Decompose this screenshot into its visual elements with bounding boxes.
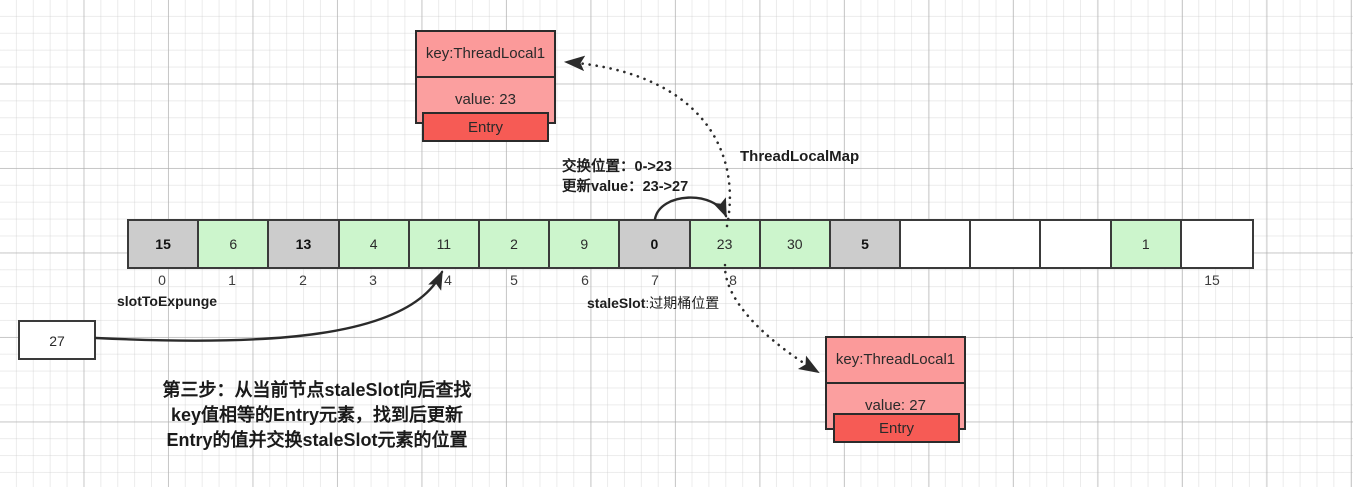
threadlocalmap-array: 15 6 13 4 11 2 9 0 23 30 5 1 <box>127 219 1254 269</box>
step-caption: 第三步：从当前节点staleSlot向后查找 key值相等的Entry元素，找到… <box>97 378 537 453</box>
array-index-2: 2 <box>283 272 323 288</box>
array-cell-13[interactable] <box>1041 221 1111 267</box>
array-index-0: 0 <box>142 272 182 288</box>
array-cell-7[interactable]: 0 <box>620 221 690 267</box>
array-index-15: 15 <box>1192 272 1232 288</box>
stale-slot-label-bold: staleSlot <box>587 295 645 311</box>
diagram-canvas: key:ThreadLocal1 value: 23 Entry key:Thr… <box>0 0 1353 487</box>
stale-slot-label: staleSlot:过期桶位置 <box>587 293 719 313</box>
step-caption-line1: 第三步：从当前节点staleSlot向后查找 <box>97 378 537 403</box>
swap-note: 交换位置：0->23 更新value：23->27 <box>562 157 722 197</box>
slot-to-expunge-label: slotToExpunge <box>117 293 217 309</box>
array-index-7: 7 <box>635 272 675 288</box>
array-index-1: 1 <box>212 272 252 288</box>
swap-note-line2: 更新value：23->27 <box>562 177 722 197</box>
entry-bottom-footer: Entry <box>833 413 960 443</box>
array-cell-2[interactable]: 13 <box>269 221 339 267</box>
array-index-6: 6 <box>565 272 605 288</box>
array-index-4: 4 <box>428 272 468 288</box>
swap-arc-arrow <box>655 198 726 219</box>
array-index-8: 8 <box>713 272 753 288</box>
array-cell-1[interactable]: 6 <box>199 221 269 267</box>
array-cell-9[interactable]: 30 <box>761 221 831 267</box>
swap-note-line1: 交换位置：0->23 <box>562 157 722 177</box>
array-cell-8[interactable]: 23 <box>691 221 761 267</box>
stale-slot-label-rest: :过期桶位置 <box>645 295 719 311</box>
array-cell-4[interactable]: 11 <box>410 221 480 267</box>
entry-top-key: key:ThreadLocal1 <box>417 32 554 76</box>
array-cell-14[interactable]: 1 <box>1112 221 1182 267</box>
array-cell-5[interactable]: 2 <box>480 221 550 267</box>
array-cell-3[interactable]: 4 <box>340 221 410 267</box>
array-index-5: 5 <box>494 272 534 288</box>
dotted-arrow-to-top-entry <box>566 62 730 226</box>
array-cell-6[interactable]: 9 <box>550 221 620 267</box>
new-value-box: 27 <box>18 320 96 360</box>
array-cell-0[interactable]: 15 <box>129 221 199 267</box>
threadlocalmap-label: ThreadLocalMap <box>740 148 859 165</box>
entry-bottom-key: key:ThreadLocal1 <box>827 338 964 382</box>
array-cell-11[interactable] <box>901 221 971 267</box>
array-index-3: 3 <box>353 272 393 288</box>
array-cell-12[interactable] <box>971 221 1041 267</box>
entry-card-top: key:ThreadLocal1 value: 23 <box>415 30 556 124</box>
entry-top-footer: Entry <box>422 112 549 142</box>
step-caption-line3: Entry的值并交换staleSlot元素的位置 <box>97 428 537 453</box>
array-cell-10[interactable]: 5 <box>831 221 901 267</box>
step-caption-line2: key值相等的Entry元素，找到后更新 <box>97 403 537 428</box>
array-cell-15[interactable] <box>1182 221 1252 267</box>
